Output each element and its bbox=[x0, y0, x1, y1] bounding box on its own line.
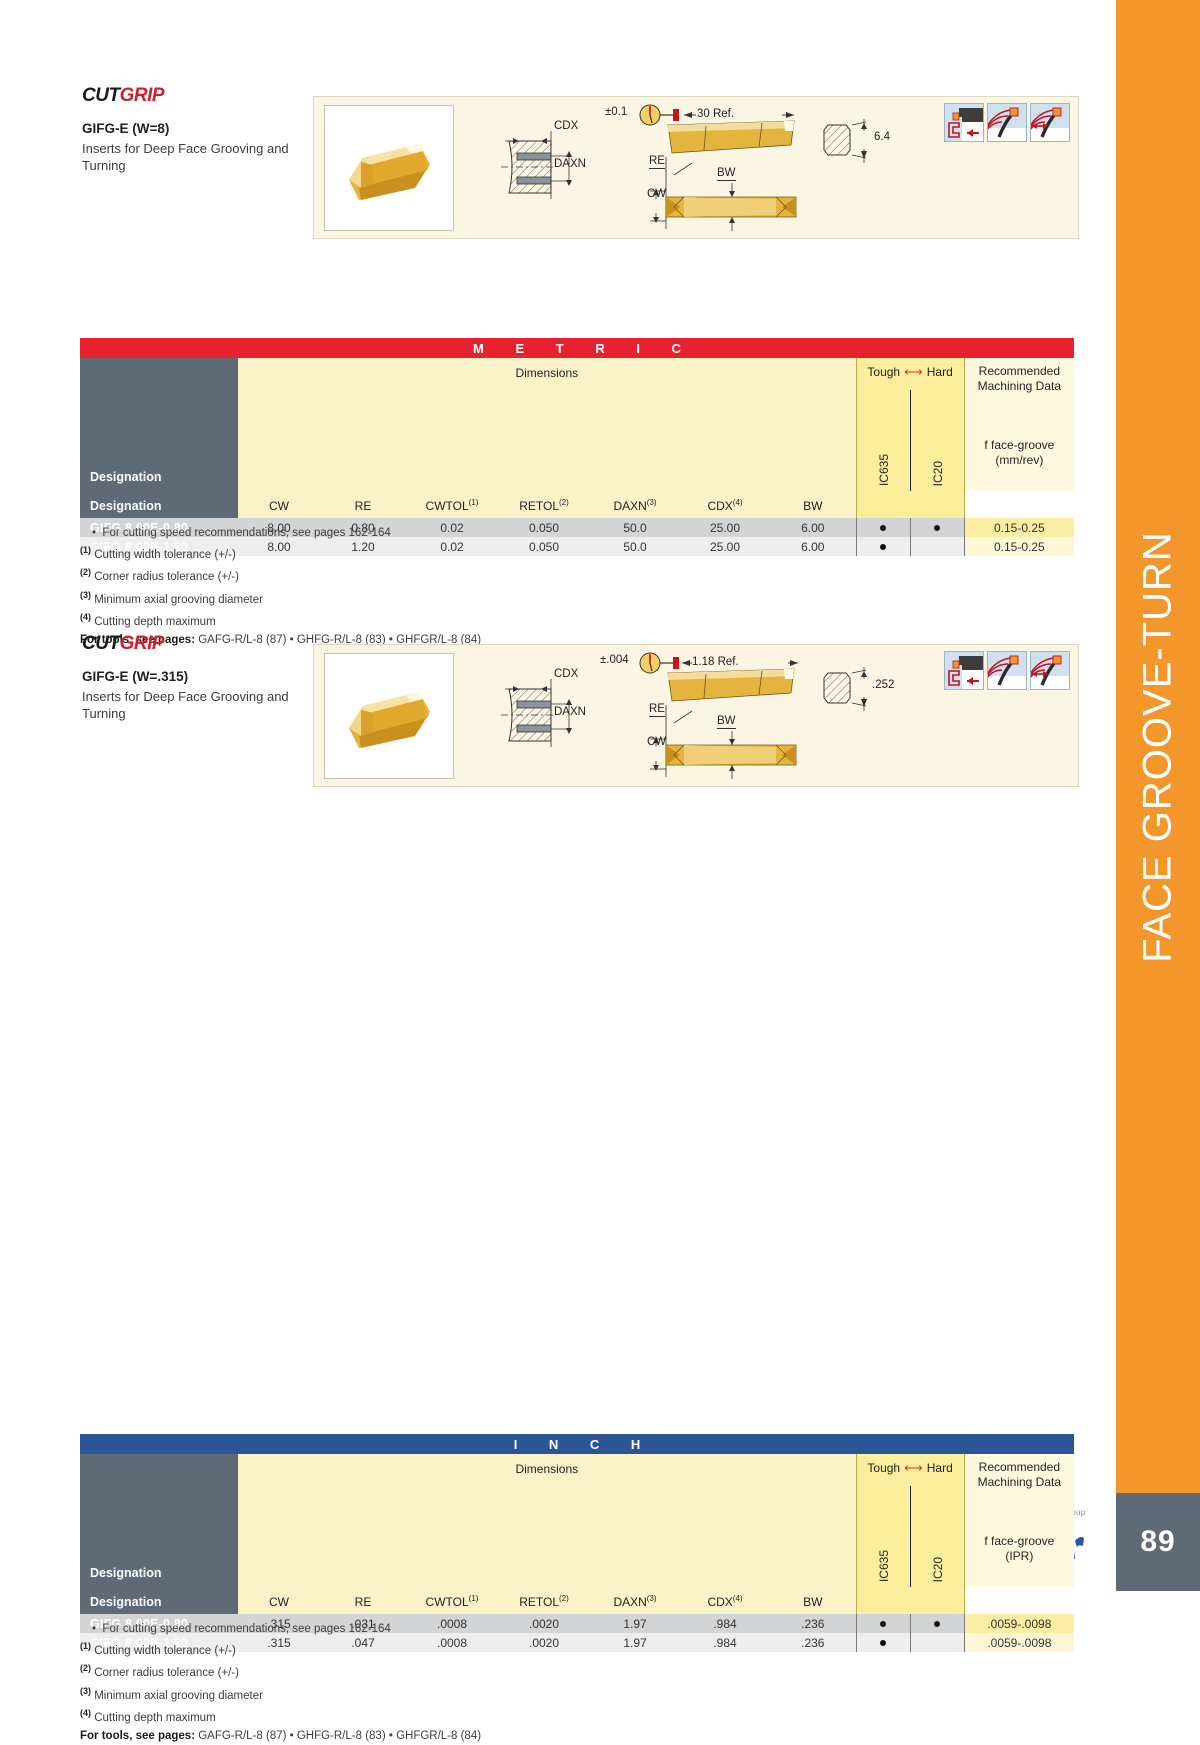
grade-dot-icon bbox=[880, 1640, 886, 1646]
insert-front-view bbox=[644, 153, 804, 233]
subhd-grade-a bbox=[856, 1587, 910, 1614]
label-cw: CW bbox=[647, 188, 666, 200]
brand-grip: GRIP bbox=[120, 633, 164, 654]
footnote-3: (3) Minimum axial grooving diameter bbox=[80, 1683, 481, 1705]
tools-reference: For tools, see pages: GAFG-R/L-8 (87) • … bbox=[80, 1727, 481, 1745]
grade-dot-icon bbox=[934, 1621, 940, 1627]
subhd-grade-a bbox=[856, 491, 910, 518]
feed-label: f face-groove bbox=[965, 438, 1075, 453]
insert-photo bbox=[328, 657, 450, 775]
product-title: GIFG-E (W=8) bbox=[82, 121, 169, 136]
cell-cdx: .984 bbox=[680, 1633, 770, 1652]
side-tab-label: FACE GROOVE-TURN bbox=[1136, 531, 1181, 963]
metric-footnotes: • For cutting speed recommendations, see… bbox=[80, 525, 481, 649]
footnote-1: (1) Cutting width tolerance (+/-) bbox=[80, 1638, 481, 1660]
tolerance-label: ±.004 bbox=[600, 654, 629, 666]
label-cdx: CDX bbox=[554, 120, 578, 132]
grade-dot-icon bbox=[880, 544, 886, 550]
tools-list: GAFG-R/L-8 (87) • GHFG-R/L-8 (83) • GHFG… bbox=[198, 1730, 481, 1742]
app-icon-turn-bidirectional bbox=[1030, 103, 1070, 142]
tough-hard-label: Tough⟷Hard bbox=[857, 364, 964, 380]
subhd-daxn: DAXN(3) bbox=[590, 1587, 680, 1614]
rmd-line2: Machining Data bbox=[965, 1475, 1075, 1490]
label-cdx: CDX bbox=[554, 668, 578, 680]
subhd-retol: RETOL(2) bbox=[498, 491, 590, 518]
tough-label: Tough bbox=[867, 1461, 900, 1475]
cell-daxn: 50.0 bbox=[590, 518, 680, 537]
cell-grade-ic635 bbox=[856, 518, 910, 537]
subhd-designation: Designation bbox=[80, 491, 238, 518]
insert-photo bbox=[328, 109, 450, 227]
label-cw: CW bbox=[647, 736, 666, 748]
grade-header-block: Tough⟷Hard IC635 IC20 bbox=[856, 358, 964, 491]
cell-grade-ic20 bbox=[910, 1633, 964, 1652]
grade-label-ic20: IC20 bbox=[931, 461, 945, 486]
cell-daxn: 1.97 bbox=[590, 1614, 680, 1633]
inch-table: I N C H Designation Dimensions Tough⟷Har… bbox=[80, 1434, 1074, 1652]
thickness-label: 6.4 bbox=[874, 131, 890, 143]
cell-bw: 6.00 bbox=[770, 537, 856, 556]
drawing-panel: CDX DAXN ±.004 1.18 Ref. bbox=[313, 644, 1079, 787]
app-icon-groove-turn bbox=[987, 651, 1027, 690]
subhd-cw: CW bbox=[238, 1587, 320, 1614]
footnote-1: (1) Cutting width tolerance (+/-) bbox=[80, 542, 481, 564]
footnote-2: (2) Corner radius tolerance (+/-) bbox=[80, 1660, 481, 1682]
app-icon-groove-turn bbox=[987, 103, 1027, 142]
subhd-bw: BW bbox=[770, 1587, 856, 1614]
footnote-bullet: • For cutting speed recommendations, see… bbox=[80, 1621, 481, 1638]
insert-photo-frame bbox=[324, 105, 454, 231]
tools-label: For tools, see pages: bbox=[80, 1730, 195, 1742]
metric-table: M E T R I C Designation Dimensions Tough… bbox=[80, 338, 1074, 556]
drawing-panel: CDX DAXN ±0.1 30 Ref. bbox=[313, 96, 1079, 239]
sub-header-row: Designation CW RE CWTOL(1) RETOL(2) DAXN… bbox=[80, 1587, 1074, 1614]
cell-grade-ic20 bbox=[910, 1614, 964, 1633]
cell-feed: .0059-.0098 bbox=[964, 1614, 1074, 1633]
grade-divider bbox=[910, 390, 911, 491]
col-header-dimensions: Dimensions bbox=[238, 358, 856, 491]
subhd-cwtol: CWTOL(1) bbox=[406, 1587, 498, 1614]
cell-grade-ic635 bbox=[856, 1614, 910, 1633]
feed-unit: (mm/rev) bbox=[965, 453, 1075, 468]
cell-daxn: 50.0 bbox=[590, 537, 680, 556]
grade-divider bbox=[910, 1486, 911, 1587]
cell-feed: 0.15-0.25 bbox=[964, 518, 1074, 537]
feed-unit: (IPR) bbox=[965, 1549, 1075, 1564]
rmd-line1: Recommended bbox=[965, 1460, 1075, 1475]
unit-bar-inch: I N C H bbox=[80, 1434, 1074, 1454]
application-icons bbox=[944, 651, 1070, 690]
double-arrow-icon: ⟷ bbox=[900, 364, 927, 379]
cutgrip-logo: CUTGRIP bbox=[82, 85, 164, 107]
tough-hard-label: Tough⟷Hard bbox=[857, 1460, 964, 1476]
brand-grip: GRIP bbox=[120, 85, 164, 106]
brand-cut: CUT bbox=[82, 633, 120, 654]
insert-photo-frame bbox=[324, 653, 454, 779]
rmd-line1: Recommended bbox=[965, 364, 1075, 379]
side-tab: FACE GROOVE-TURN bbox=[1116, 0, 1200, 1493]
subhd-cdx: CDX(4) bbox=[680, 491, 770, 518]
footnote-bullet: • For cutting speed recommendations, see… bbox=[80, 525, 481, 542]
rmd-line2: Machining Data bbox=[965, 379, 1075, 394]
grade-dot-icon bbox=[880, 525, 886, 531]
label-daxn: DAXN bbox=[554, 706, 586, 718]
subhd-cdx: CDX(4) bbox=[680, 1587, 770, 1614]
footnote-4: (4) Cutting depth maximum bbox=[80, 609, 481, 631]
cell-bw: .236 bbox=[770, 1633, 856, 1652]
cell-daxn: 1.97 bbox=[590, 1633, 680, 1652]
grade-label-ic20: IC20 bbox=[931, 1557, 945, 1582]
col-header-dimensions: Dimensions bbox=[238, 1454, 856, 1587]
tough-label: Tough bbox=[867, 365, 900, 379]
col-header-designation: Designation bbox=[80, 1454, 238, 1587]
cell-bw: .236 bbox=[770, 1614, 856, 1633]
thickness-section-diagram bbox=[822, 667, 892, 717]
cutgrip-logo: CUTGRIP bbox=[82, 633, 164, 655]
cell-retol: .0020 bbox=[498, 1614, 590, 1633]
cell-cdx: .984 bbox=[680, 1614, 770, 1633]
subhd-retol: RETOL(2) bbox=[498, 1587, 590, 1614]
grade-label-ic635: IC635 bbox=[877, 454, 891, 486]
cell-cdx: 25.00 bbox=[680, 518, 770, 537]
grade-dot-icon bbox=[880, 1621, 886, 1627]
thickness-label: .252 bbox=[872, 679, 894, 691]
grade-label-ic635: IC635 bbox=[877, 1550, 891, 1582]
double-arrow-icon: ⟷ bbox=[900, 1460, 927, 1475]
cell-bw: 6.00 bbox=[770, 518, 856, 537]
subhd-cwtol: CWTOL(1) bbox=[406, 491, 498, 518]
product-subtitle: Inserts for Deep Face Grooving and Turni… bbox=[82, 140, 312, 174]
label-re: RE bbox=[649, 155, 665, 169]
page-number: 89 bbox=[1116, 1493, 1200, 1591]
brand-cut: CUT bbox=[82, 85, 120, 106]
app-icon-face-groove bbox=[944, 103, 984, 142]
feed-label: f face-groove bbox=[965, 1534, 1075, 1549]
rmd-header-block: Recommended Machining Data f face-groove… bbox=[964, 1454, 1074, 1587]
application-icons bbox=[944, 103, 1070, 142]
app-icon-turn-bidirectional bbox=[1030, 651, 1070, 690]
label-daxn: DAXN bbox=[554, 158, 586, 170]
subhd-grade-b bbox=[910, 491, 964, 518]
unit-bar-metric: M E T R I C bbox=[80, 338, 1074, 358]
grade-dot-icon bbox=[934, 525, 940, 531]
cell-retol: .0020 bbox=[498, 1633, 590, 1652]
subhd-re: RE bbox=[320, 1587, 406, 1614]
subhd-cw: CW bbox=[238, 491, 320, 518]
thickness-section-diagram bbox=[822, 119, 892, 169]
cell-cdx: 25.00 bbox=[680, 537, 770, 556]
cell-feed: .0059-.0098 bbox=[964, 1633, 1074, 1652]
subhd-re: RE bbox=[320, 491, 406, 518]
footnote-2: (2) Corner radius tolerance (+/-) bbox=[80, 564, 481, 586]
cell-grade-ic635 bbox=[856, 537, 910, 556]
insert-front-view bbox=[644, 701, 804, 781]
cell-feed: 0.15-0.25 bbox=[964, 537, 1074, 556]
label-bw: BW bbox=[717, 715, 736, 729]
subhd-daxn: DAXN(3) bbox=[590, 491, 680, 518]
cell-retol: 0.050 bbox=[498, 518, 590, 537]
subhd-grade-b bbox=[910, 1587, 964, 1614]
footnote-4: (4) Cutting depth maximum bbox=[80, 1705, 481, 1727]
sub-header-row: Designation CW RE CWTOL(1) RETOL(2) DAXN… bbox=[80, 491, 1074, 518]
col-header-designation: Designation bbox=[80, 358, 238, 491]
footnote-3: (3) Minimum axial grooving diameter bbox=[80, 587, 481, 609]
product-title: GIFG-E (W=.315) bbox=[82, 669, 188, 684]
catalog-page: FACE GROOVE-TURN 89 Member IMC Group CUT… bbox=[0, 0, 1200, 1591]
app-icon-face-groove bbox=[944, 651, 984, 690]
tolerance-label: ±0.1 bbox=[605, 106, 627, 118]
inch-footnotes: • For cutting speed recommendations, see… bbox=[80, 1621, 481, 1745]
rmd-header-block: Recommended Machining Data f face-groove… bbox=[964, 358, 1074, 491]
grade-header-block: Tough⟷Hard IC635 IC20 bbox=[856, 1454, 964, 1587]
product-subtitle: Inserts for Deep Face Grooving and Turni… bbox=[82, 688, 312, 722]
cell-grade-ic20 bbox=[910, 518, 964, 537]
hard-label: Hard bbox=[927, 365, 953, 379]
subhd-bw: BW bbox=[770, 491, 856, 518]
subhd-designation: Designation bbox=[80, 1587, 238, 1614]
cell-grade-ic20 bbox=[910, 537, 964, 556]
label-bw: BW bbox=[717, 167, 736, 181]
label-re: RE bbox=[649, 703, 665, 717]
cell-grade-ic635 bbox=[856, 1633, 910, 1652]
cell-retol: 0.050 bbox=[498, 537, 590, 556]
hard-label: Hard bbox=[927, 1461, 953, 1475]
